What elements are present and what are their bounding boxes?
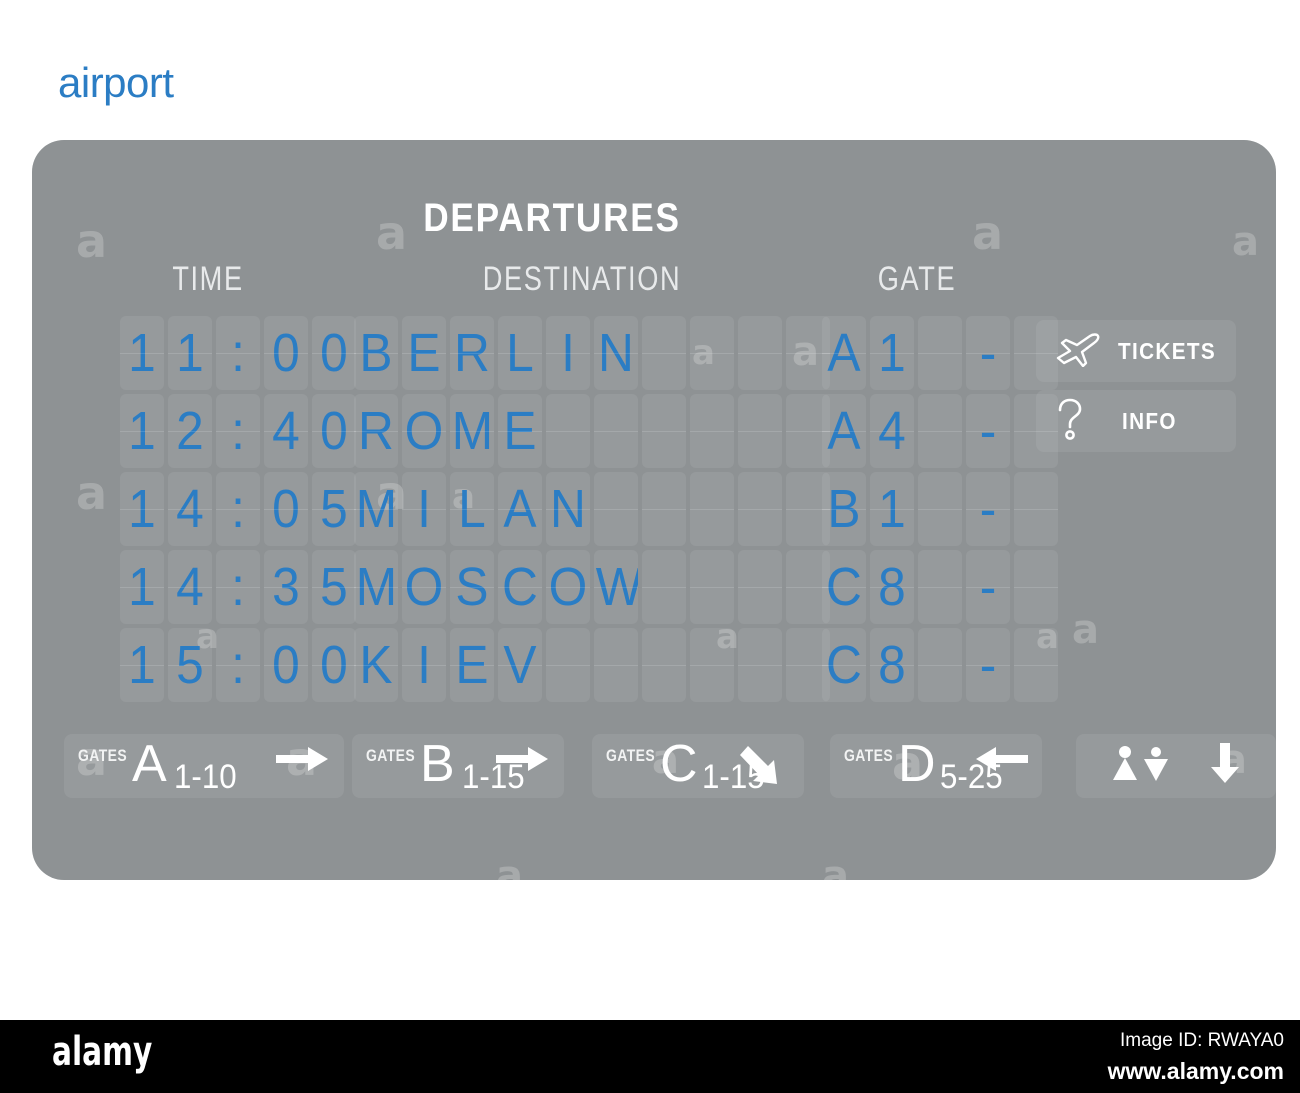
flip-tile-char: B: [356, 326, 396, 380]
flip-tile: 1: [168, 316, 212, 390]
arrow-down-right-icon: [740, 744, 790, 793]
flip-tile-char: E: [404, 326, 444, 380]
flip-tile: [690, 628, 734, 702]
flip-tile: K: [354, 628, 398, 702]
flip-tile: L: [450, 472, 494, 546]
flip-tile: R: [354, 394, 398, 468]
flip-tile-char: 2: [170, 404, 210, 458]
page-title: airport: [58, 62, 174, 104]
facilities-chip[interactable]: [1076, 734, 1276, 798]
flight-destination-cells: MOSCOW: [354, 550, 830, 624]
flip-tile: [642, 550, 686, 624]
flip-tile-char: 0: [314, 326, 354, 380]
flip-tile: C: [822, 628, 866, 702]
flip-tile-char: N: [548, 482, 588, 536]
flip-tile: E: [498, 394, 542, 468]
flip-tile: B: [822, 472, 866, 546]
flip-tile-char: L: [452, 482, 492, 536]
flip-tile-char: 1: [170, 326, 210, 380]
flip-tile-char: 4: [266, 404, 306, 458]
flip-tile-char: 4: [170, 482, 210, 536]
flight-time-cells: 15:00: [120, 628, 356, 702]
flip-tile: [546, 394, 590, 468]
flip-tile-char: V: [500, 638, 540, 692]
flip-tile: 0: [264, 628, 308, 702]
flip-tile: -: [966, 628, 1010, 702]
flip-tile-char: :: [218, 638, 258, 692]
flip-tile: 0: [312, 394, 356, 468]
flip-tile-char: 5: [314, 560, 354, 614]
flip-tile-char: O: [404, 560, 444, 614]
flight-row: 15:00KIEVC8 -: [32, 628, 1276, 706]
watermark-glyph: a: [496, 856, 523, 896]
flip-tile: 1: [120, 628, 164, 702]
flip-tile-char: [920, 638, 960, 692]
flip-tile-char: :: [218, 560, 258, 614]
flip-tile: [594, 628, 638, 702]
flip-tile: W: [594, 550, 638, 624]
flip-tile-char: R: [356, 404, 396, 458]
flip-tile: I: [402, 628, 446, 702]
flip-tile: L: [498, 316, 542, 390]
flip-tile: :: [216, 550, 260, 624]
flip-tile-char: K: [356, 638, 396, 692]
flip-tile-char: -: [968, 326, 1008, 380]
flip-tile: [738, 472, 782, 546]
flip-tile: [690, 394, 734, 468]
flip-tile: [642, 472, 686, 546]
flip-tile: B: [354, 316, 398, 390]
flip-tile: C: [498, 550, 542, 624]
flip-tile-char: [920, 326, 960, 380]
flip-tile: I: [546, 316, 590, 390]
flip-tile-char: R: [452, 326, 492, 380]
flip-tile: O: [546, 550, 590, 624]
flip-tile-char: 3: [266, 560, 306, 614]
flight-destination-cells: BERLIN: [354, 316, 830, 390]
gate-chip-b-letter: B: [420, 738, 455, 790]
flip-tile-char: -: [968, 560, 1008, 614]
gate-chip-d-letter: D: [898, 738, 936, 790]
flip-tile: 0: [312, 628, 356, 702]
flip-tile: [642, 394, 686, 468]
flip-tile: A: [822, 316, 866, 390]
arrow-down-icon: [1209, 743, 1241, 790]
flip-tile: O: [402, 394, 446, 468]
flight-gate-cells: C8 -: [822, 628, 1058, 702]
flip-tile-char: 5: [170, 638, 210, 692]
flight-destination-cells: MILAN: [354, 472, 830, 546]
departure-board-panel: aaaaaaaaaaaaaaaaaaaa DEPARTURES TIME DES…: [32, 140, 1276, 880]
flip-tile: [738, 628, 782, 702]
flip-tile: I: [402, 472, 446, 546]
info-button-label: INFO: [1122, 408, 1177, 435]
flip-tile: :: [216, 316, 260, 390]
flip-tile-char: -: [968, 404, 1008, 458]
arrow-right-icon: [496, 744, 550, 779]
flip-tile-char: W: [596, 560, 636, 614]
flip-tile-char: 4: [872, 404, 912, 458]
flip-tile: C: [822, 550, 866, 624]
flip-tile-char: M: [356, 560, 396, 614]
tickets-button-label: TICKETS: [1118, 338, 1216, 365]
restrooms-icon: [1111, 744, 1175, 789]
flip-tile: [738, 550, 782, 624]
column-header-gate: GATE: [817, 260, 1017, 299]
alamy-logo: alamy: [52, 1032, 152, 1072]
flip-tile-char: 0: [266, 326, 306, 380]
flip-tile: A: [498, 472, 542, 546]
flip-tile: [1014, 472, 1058, 546]
flip-tile: :: [216, 394, 260, 468]
flip-tile-char: C: [500, 560, 540, 614]
flight-time-cells: 12:40: [120, 394, 356, 468]
flip-tile: 0: [264, 316, 308, 390]
flip-tile-char: 0: [266, 482, 306, 536]
flip-tile: 4: [264, 394, 308, 468]
flip-tile-char: N: [596, 326, 636, 380]
gate-chip-c[interactable]: GATES C 1-15: [592, 734, 804, 798]
flip-tile-char: C: [824, 638, 864, 692]
flip-tile-char: M: [356, 482, 396, 536]
flip-tile: -: [966, 550, 1010, 624]
flight-gate-cells: C8 -: [822, 550, 1058, 624]
flip-tile: 3: [264, 550, 308, 624]
flip-tile: -: [966, 472, 1010, 546]
flip-tile: 2: [168, 394, 212, 468]
flip-tile-char: [1016, 560, 1056, 614]
flight-time-cells: 14:35: [120, 550, 356, 624]
flip-tile: S: [450, 550, 494, 624]
flip-tile: M: [450, 394, 494, 468]
column-header-destination: DESTINATION: [390, 260, 774, 299]
flip-tile-char: O: [404, 404, 444, 458]
flip-tile-char: [920, 560, 960, 614]
flip-tile: [918, 472, 962, 546]
flight-gate-cells: A4 -: [822, 394, 1058, 468]
gate-chip-a-letter: A: [132, 738, 167, 790]
watermark-glyph: a: [1232, 222, 1259, 262]
flip-tile: 1: [870, 316, 914, 390]
gate-chip-d[interactable]: GATES D 5-25: [830, 734, 1042, 798]
flip-tile-char: :: [218, 326, 258, 380]
flip-tile-char: 5: [314, 482, 354, 536]
flip-tile-char: 8: [872, 638, 912, 692]
tickets-button[interactable]: TICKETS: [1036, 320, 1236, 382]
flight-row: 14:35MOSCOWC8 -: [32, 550, 1276, 628]
question-mark-icon: [1052, 397, 1086, 446]
flip-tile: N: [546, 472, 590, 546]
flight-gate-cells: B1 -: [822, 472, 1058, 546]
flip-tile-char: 1: [872, 482, 912, 536]
flip-tile-char: C: [824, 560, 864, 614]
flip-tile-char: 1: [122, 326, 162, 380]
flight-row: 14:05MILANB1 -: [32, 472, 1276, 550]
gate-direction-bar: GATES A 1-10 GATES B 1-15 GATES C 1-15: [32, 734, 1276, 804]
gate-chip-a-gates-label: GATES: [78, 746, 127, 766]
flip-tile: 1: [870, 472, 914, 546]
flip-tile: [738, 316, 782, 390]
flip-tile-char: E: [452, 638, 492, 692]
arrow-right-icon: [276, 744, 330, 779]
flip-tile-char: 0: [266, 638, 306, 692]
flip-tile-char: 4: [170, 560, 210, 614]
flip-tile-char: :: [218, 404, 258, 458]
flip-tile-char: -: [968, 638, 1008, 692]
flip-tile-char: -: [968, 482, 1008, 536]
flip-tile: [918, 394, 962, 468]
flip-tile-char: B: [824, 482, 864, 536]
flight-destination-cells: KIEV: [354, 628, 830, 702]
flip-tile-char: A: [500, 482, 540, 536]
flip-tile: O: [402, 550, 446, 624]
flip-tile: 5: [312, 472, 356, 546]
flip-tile: [918, 628, 962, 702]
flip-tile: 8: [870, 550, 914, 624]
flip-tile-char: L: [500, 326, 540, 380]
flip-tile-char: 1: [122, 404, 162, 458]
flip-tile: :: [216, 472, 260, 546]
arrow-left-icon: [974, 744, 1028, 779]
flip-tile: 4: [168, 472, 212, 546]
flip-tile-char: S: [452, 560, 492, 614]
flight-gate-cells: A1 -: [822, 316, 1058, 390]
flip-tile: [690, 550, 734, 624]
flip-tile: [642, 316, 686, 390]
flip-tile: 5: [168, 628, 212, 702]
flip-tile: [1014, 628, 1058, 702]
flip-tile: 4: [168, 550, 212, 624]
flip-tile: 1: [120, 472, 164, 546]
gate-chip-a-range: 1-10: [174, 760, 237, 794]
flip-tile: M: [354, 472, 398, 546]
flip-tile: E: [402, 316, 446, 390]
flip-tile-char: 1: [122, 638, 162, 692]
flip-tile-char: 1: [122, 560, 162, 614]
flip-tile: [546, 628, 590, 702]
flip-tile-char: [1016, 482, 1056, 536]
flip-tile-char: M: [452, 404, 492, 458]
flip-tile: N: [594, 316, 638, 390]
flip-tile-char: 1: [872, 326, 912, 380]
flip-tile-char: I: [404, 638, 444, 692]
flip-tile: 8: [870, 628, 914, 702]
flip-tile: [642, 628, 686, 702]
flip-tile: R: [450, 316, 494, 390]
flip-tile-char: :: [218, 482, 258, 536]
footer-image-id: Image ID: RWAYA0: [1120, 1030, 1284, 1052]
flight-time-cells: 11:00: [120, 316, 356, 390]
flip-tile-char: O: [548, 560, 588, 614]
flip-tile: 1: [120, 316, 164, 390]
flip-tile: -: [966, 394, 1010, 468]
gate-chip-c-letter: C: [660, 738, 698, 790]
watermark-glyph: a: [822, 856, 849, 896]
flip-tile-char: 8: [872, 560, 912, 614]
flip-tile: [1014, 550, 1058, 624]
flip-tile: 5: [312, 550, 356, 624]
flip-tile: E: [450, 628, 494, 702]
flip-tile-char: A: [824, 326, 864, 380]
info-button[interactable]: INFO: [1036, 390, 1236, 452]
flip-tile: [918, 550, 962, 624]
flip-tile-char: 0: [314, 638, 354, 692]
footer-url: www.alamy.com: [1108, 1058, 1284, 1085]
flip-tile-char: [920, 404, 960, 458]
gate-chip-b[interactable]: GATES B 1-15: [352, 734, 564, 798]
flip-tile-char: I: [548, 326, 588, 380]
flip-tile: :: [216, 628, 260, 702]
flip-tile: -: [966, 316, 1010, 390]
flip-tile: 0: [264, 472, 308, 546]
flip-tile: A: [822, 394, 866, 468]
flip-tile: V: [498, 628, 542, 702]
flip-tile: 0: [312, 316, 356, 390]
flight-time-cells: 14:05: [120, 472, 356, 546]
flip-tile-char: I: [404, 482, 444, 536]
flip-tile-char: [920, 482, 960, 536]
column-header-time: TIME: [112, 260, 304, 299]
flip-tile: 4: [870, 394, 914, 468]
flip-tile: 1: [120, 550, 164, 624]
flip-tile: [918, 316, 962, 390]
gate-chip-d-gates-label: GATES: [844, 746, 893, 766]
flip-tile-char: A: [824, 404, 864, 458]
flip-tile: [594, 472, 638, 546]
gate-chip-c-gates-label: GATES: [606, 746, 655, 766]
flip-tile-char: 0: [314, 404, 354, 458]
flip-tile: [738, 394, 782, 468]
footer-bar: alamy Image ID: RWAYA0 www.alamy.com: [0, 1020, 1300, 1093]
flip-tile: M: [354, 550, 398, 624]
flip-tile-char: 1: [122, 482, 162, 536]
flip-tile-char: [1016, 638, 1056, 692]
flip-tile: [594, 394, 638, 468]
airplane-icon: [1052, 331, 1104, 372]
gate-chip-a[interactable]: GATES A 1-10: [64, 734, 344, 798]
departures-heading: DEPARTURES: [94, 196, 1009, 241]
flight-destination-cells: ROME: [354, 394, 830, 468]
flip-tile: [690, 472, 734, 546]
gate-chip-b-gates-label: GATES: [366, 746, 415, 766]
flip-tile: [690, 316, 734, 390]
flip-tile: 1: [120, 394, 164, 468]
flip-tile-char: E: [500, 404, 540, 458]
